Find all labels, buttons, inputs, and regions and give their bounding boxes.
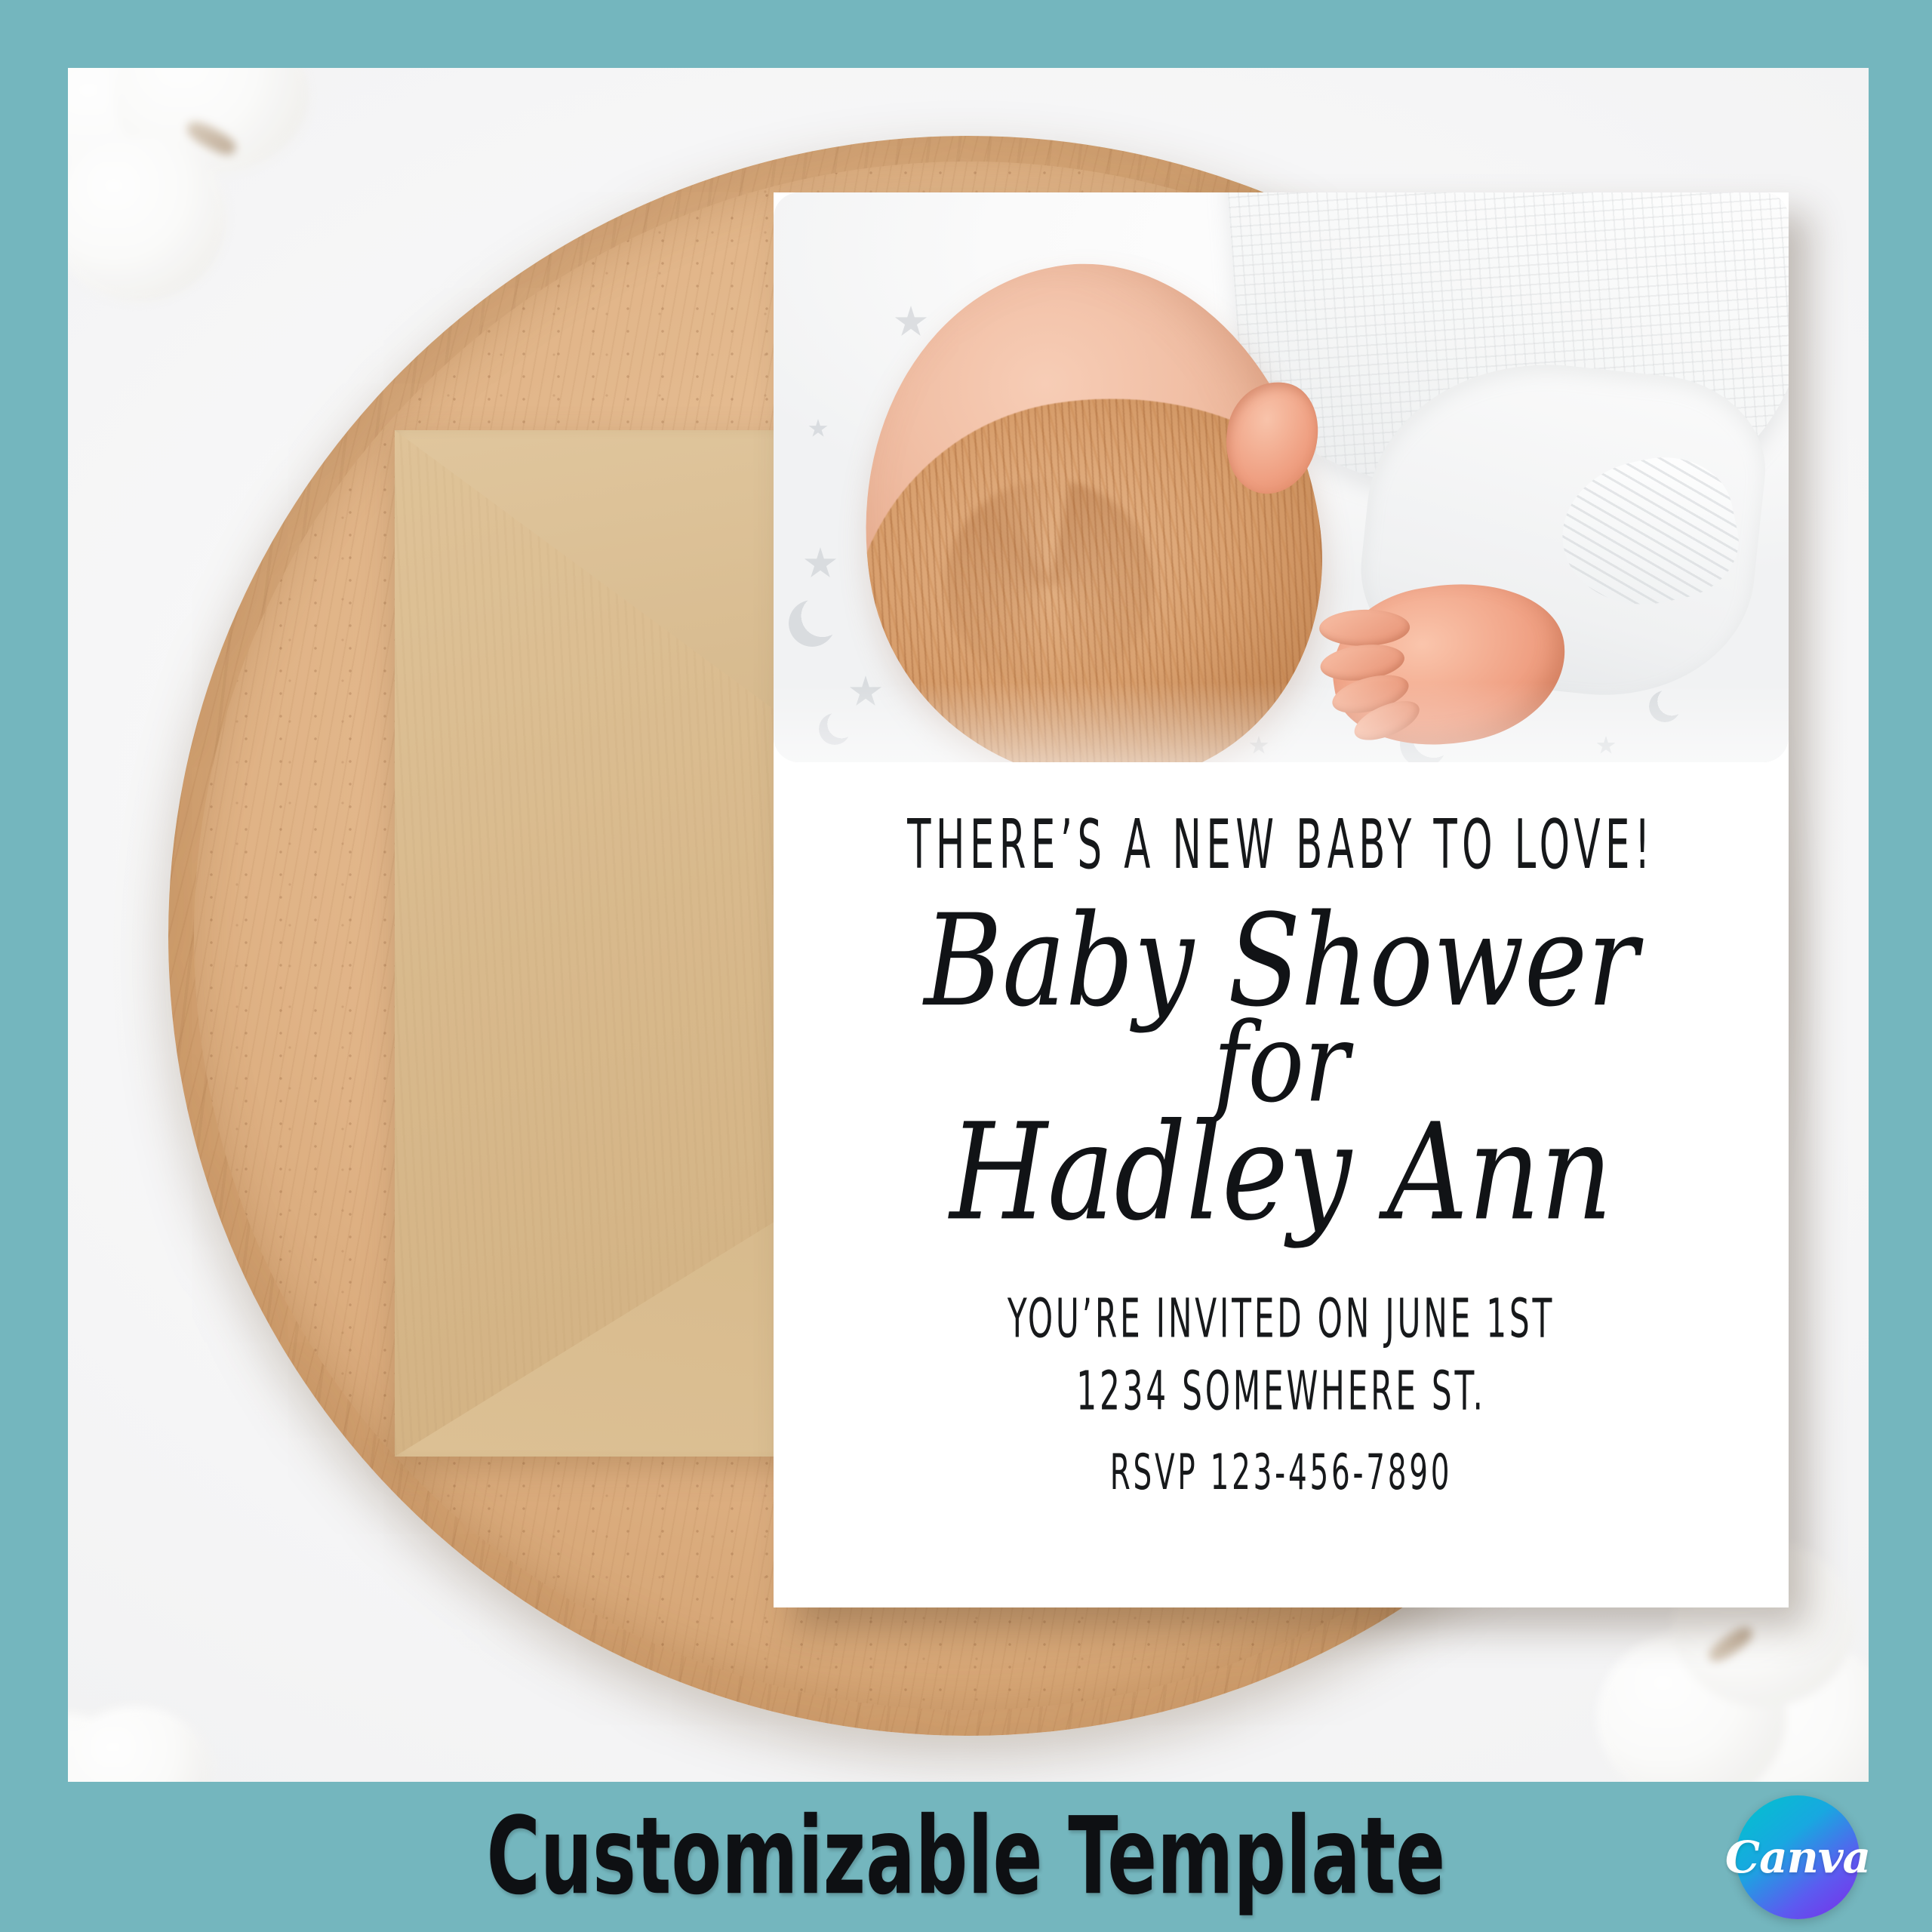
canva-logo: Canva <box>1736 1795 1860 1919</box>
invitation-text-block: THERE’S A NEW BABY TO LOVE! Baby Shower … <box>774 762 1789 1607</box>
cotton-boll-bottom-left <box>68 1646 226 1782</box>
listing-image: THERE’S A NEW BABY TO LOVE! Baby Shower … <box>0 0 1932 1932</box>
product-photo: THERE’S A NEW BABY TO LOVE! Baby Shower … <box>68 68 1869 1782</box>
banner-label: Customizable Template <box>487 1795 1446 1918</box>
moon-motif <box>789 600 835 647</box>
cotton-boll-top-left <box>68 68 340 325</box>
canva-wordmark: Canva <box>1725 1832 1870 1883</box>
baby-photo <box>774 192 1789 762</box>
moon-motif <box>819 713 851 745</box>
invitation-headline: THERE’S A NEW BABY TO LOVE! <box>814 804 1748 884</box>
invitation-title-line-3: Hadley Ann <box>804 1112 1758 1235</box>
invitation-detail-date: YOU’RE INVITED ON JUNE 1ST <box>804 1287 1758 1349</box>
invitation-card: THERE’S A NEW BABY TO LOVE! Baby Shower … <box>774 192 1789 1607</box>
moon-motif <box>1649 691 1681 722</box>
bottom-banner: Customizable Template Canva <box>0 1782 1932 1932</box>
invitation-detail-rsvp: RSVP 123-456-7890 <box>804 1443 1758 1501</box>
invitation-detail-address: 1234 SOMEWHERE ST. <box>804 1360 1758 1422</box>
